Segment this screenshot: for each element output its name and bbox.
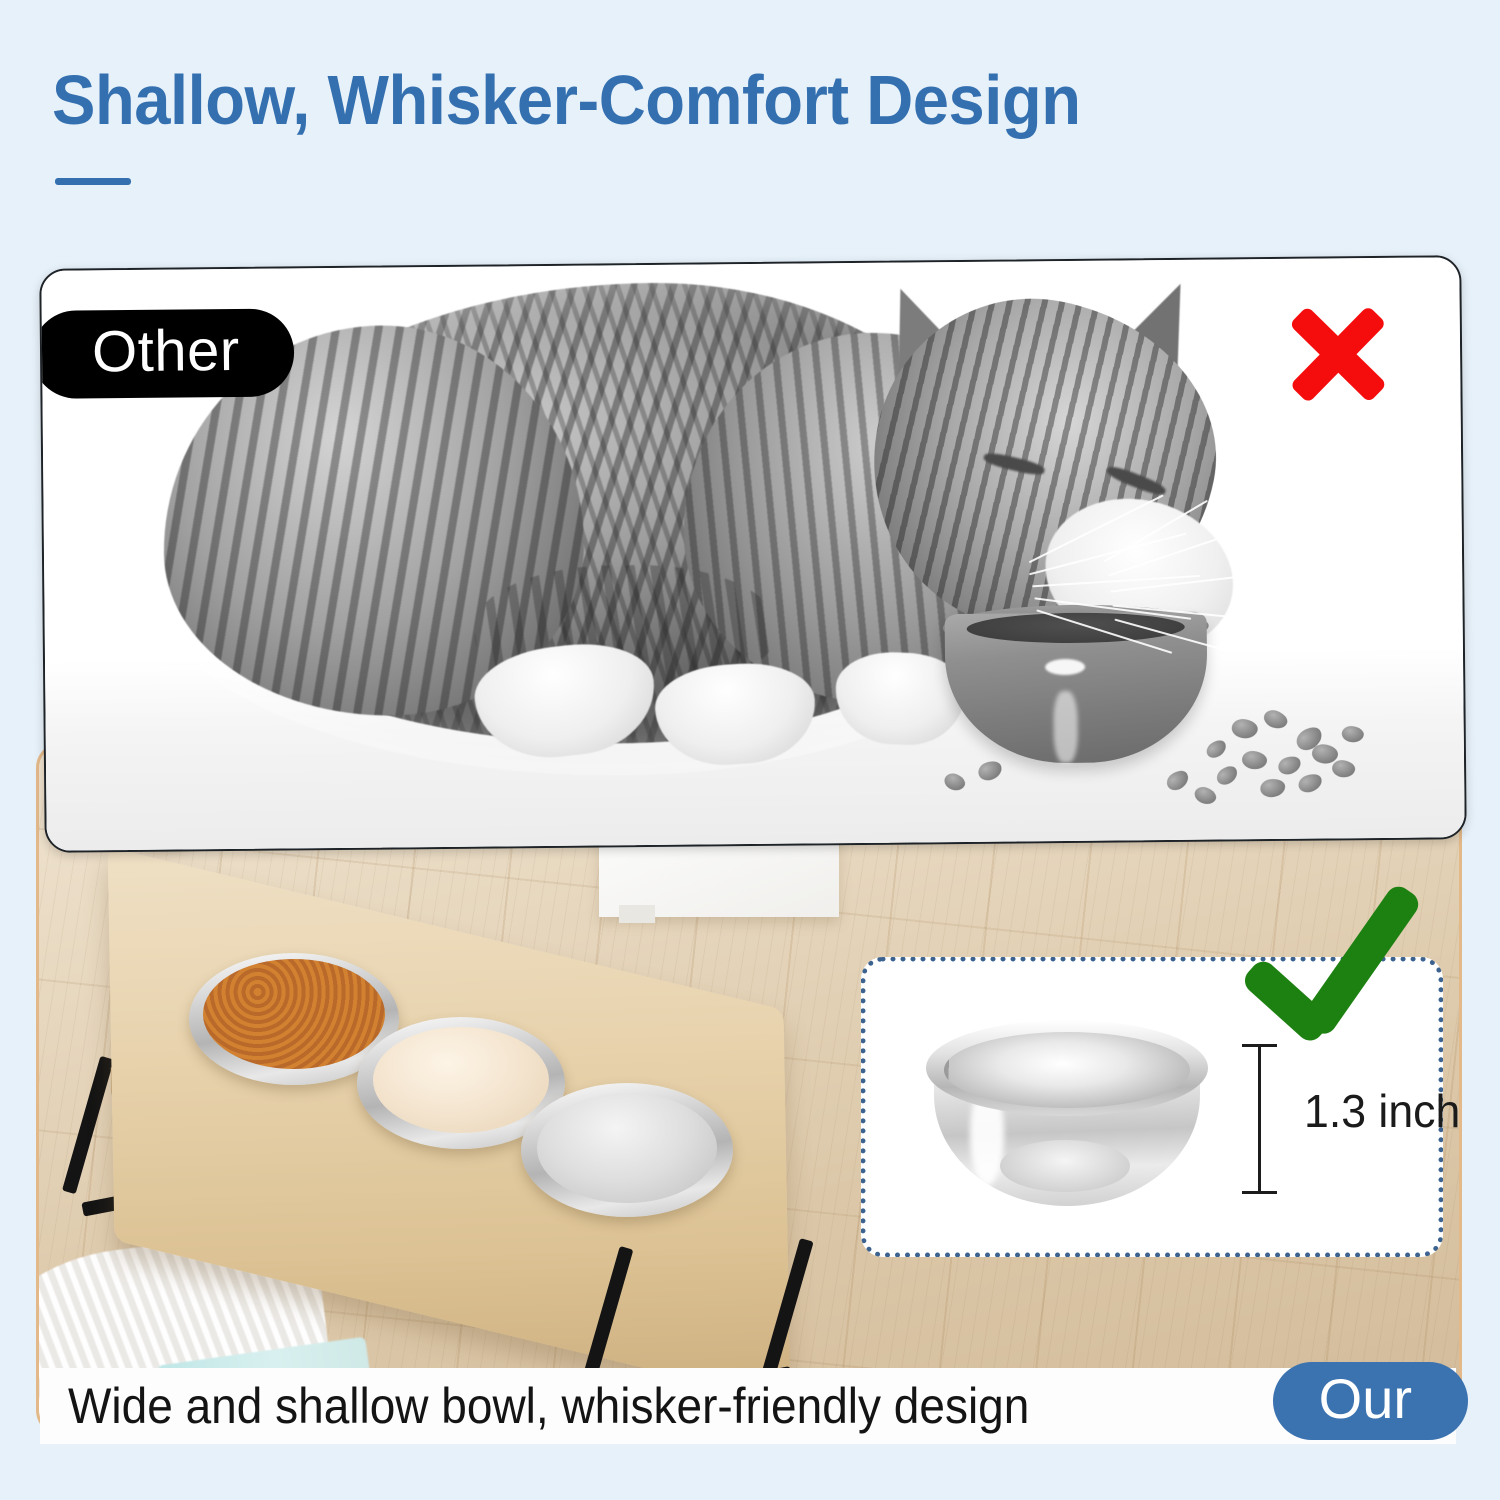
badge-our: Our <box>1273 1362 1468 1440</box>
check-icon <box>1245 890 1425 1040</box>
dimension-cap-bottom <box>1242 1191 1277 1194</box>
caption-bar: Wide and shallow bowl, whisker-friendly … <box>40 1368 1456 1444</box>
bowl-water-liquid <box>537 1093 717 1203</box>
title-underline-rule <box>55 178 131 185</box>
badge-other: Other <box>39 308 294 399</box>
infographic-root: Shallow, Whisker-Comfort Design <box>0 0 1500 1500</box>
white-cabinet-foot <box>619 905 655 923</box>
cross-icon <box>1282 298 1395 411</box>
shallow-bowl-illustration <box>926 1020 1208 1206</box>
dimension-label: 1.3 inches <box>1304 1084 1462 1138</box>
bowl-milk-liquid <box>373 1027 549 1133</box>
bowl-food-kibble <box>203 959 385 1069</box>
page-title: Shallow, Whisker-Comfort Design <box>52 60 1080 140</box>
caption-text: Wide and shallow bowl, whisker-friendly … <box>68 1377 1029 1435</box>
shallow-bowl-cavity <box>944 1032 1190 1108</box>
deep-bowl-reflection <box>1053 691 1078 763</box>
shallow-bowl-base <box>1000 1140 1130 1192</box>
dimension-line <box>1258 1044 1261 1194</box>
comparison-panel-other: Other <box>39 255 1467 853</box>
